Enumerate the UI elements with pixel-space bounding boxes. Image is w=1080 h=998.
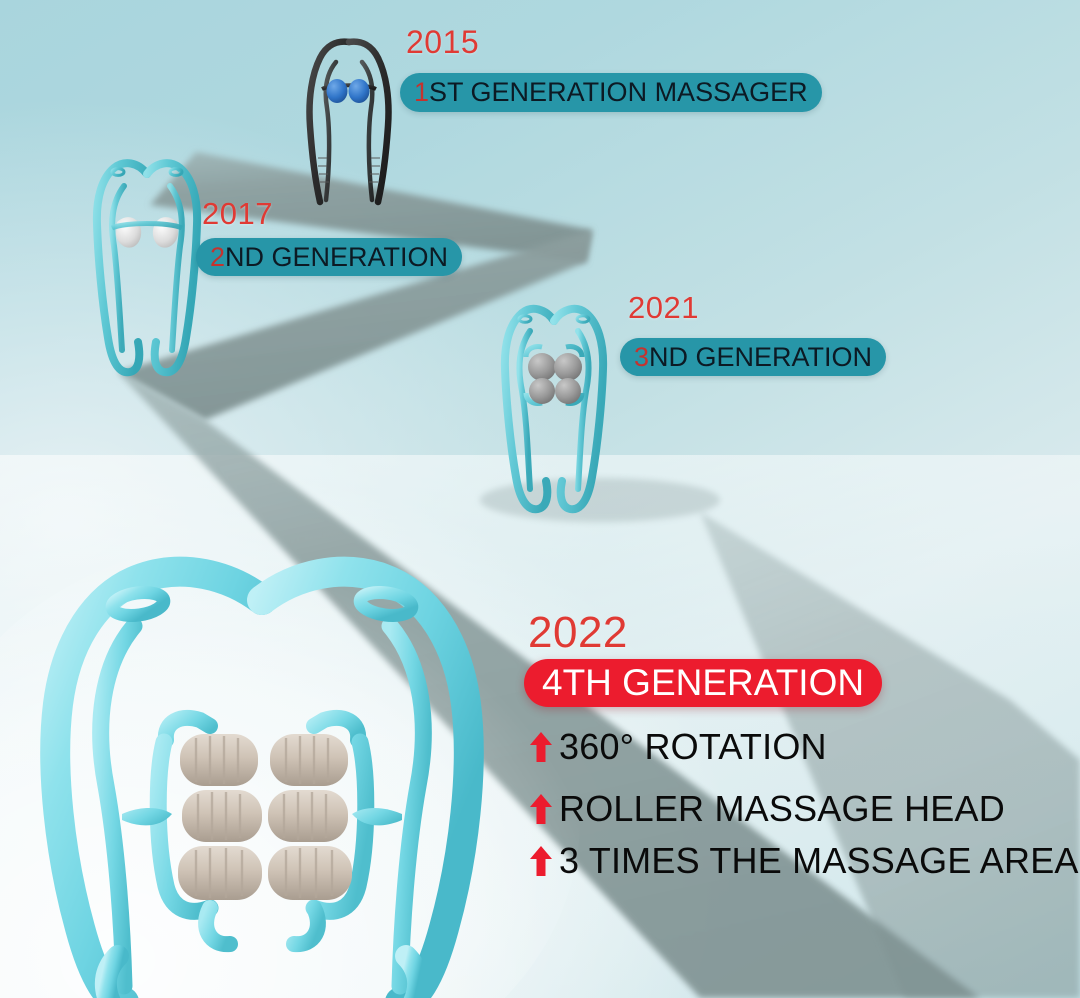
year-label-gen1: 2015 <box>406 24 479 61</box>
badge-hero-rest: TH GENERATION <box>563 662 865 704</box>
feature-text-1: ROLLER MASSAGE HEAD <box>559 788 1005 830</box>
badge-gen1: 1ST GENERATION MASSAGER <box>400 73 822 112</box>
year-label-gen3: 2021 <box>628 290 699 326</box>
feature-row-rotation: 360° ROTATION <box>528 726 827 768</box>
badge-gen2-rest: ND GENERATION <box>225 242 448 273</box>
badge-gen3-lead: 3 <box>634 342 649 373</box>
up-arrow-icon <box>528 844 554 878</box>
badge-gen1-rest: ST GENERATION MASSAGER <box>429 77 808 108</box>
roller-group <box>178 734 352 900</box>
badge-gen3-rest: ND GENERATION <box>649 342 872 373</box>
product-gen3 <box>492 295 616 517</box>
up-arrow-icon <box>528 730 554 764</box>
feature-row-roller-head: ROLLER MASSAGE HEAD <box>528 788 1005 830</box>
infographic-stage: 2015 1ST GENERATION MASSAGER <box>0 0 1080 998</box>
product-gen1 <box>296 34 402 209</box>
badge-hero-gen4: 4TH GENERATION <box>524 659 882 707</box>
year-label-gen2: 2017 <box>202 196 273 232</box>
badge-gen2: 2ND GENERATION <box>196 238 462 276</box>
badge-gen2-lead: 2 <box>210 242 225 273</box>
year-label-hero: 2022 <box>528 608 628 658</box>
feature-row-massage-area: 3 TIMES THE MASSAGE AREA <box>528 840 1079 882</box>
product-hero-gen4 <box>14 556 514 998</box>
badge-hero-lead: 4 <box>542 662 563 704</box>
feature-text-0: 360° ROTATION <box>559 726 827 768</box>
feature-text-2: 3 TIMES THE MASSAGE AREA <box>559 840 1079 882</box>
badge-gen3: 3ND GENERATION <box>620 338 886 376</box>
badge-gen1-lead: 1 <box>414 77 429 108</box>
up-arrow-icon <box>528 792 554 826</box>
product-gen2 <box>86 152 208 380</box>
